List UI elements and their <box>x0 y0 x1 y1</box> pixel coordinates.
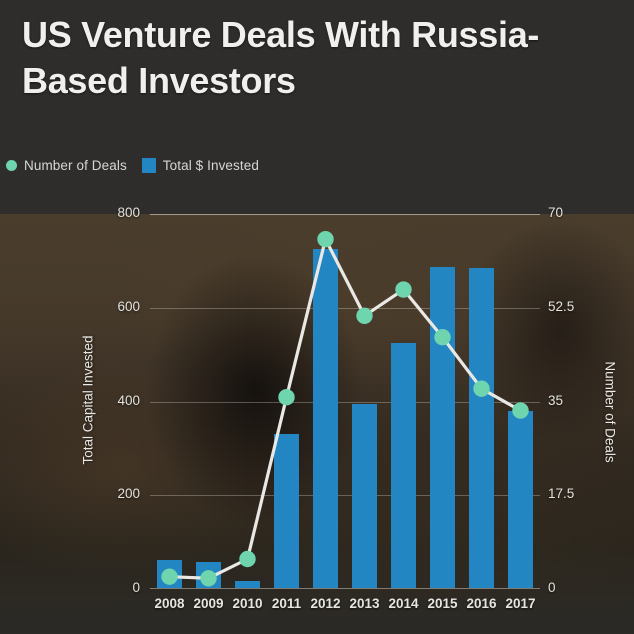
y-tick-label-right: 35 <box>548 393 608 408</box>
y-tick-label-left: 400 <box>8 393 140 408</box>
deals-markers <box>161 231 528 587</box>
y-tick-label-right: 52.5 <box>548 299 608 314</box>
line-series <box>150 214 540 589</box>
x-tick-label-2011: 2011 <box>267 596 306 611</box>
x-tick-label-2014: 2014 <box>384 596 423 611</box>
x-tick-label-2010: 2010 <box>228 596 267 611</box>
y-axis-title-right: Number of Deals <box>603 361 618 462</box>
y-tick-label-right: 17.5 <box>548 486 608 501</box>
y-tick-label-right: 0 <box>548 580 608 595</box>
y-tick-label-right: 70 <box>548 205 608 220</box>
deals-marker-2009[interactable] <box>200 570 216 586</box>
y-tick-label-left: 600 <box>8 299 140 314</box>
legend-item-total-invested[interactable]: Total $ Invested <box>142 158 259 173</box>
deals-marker-2016[interactable] <box>473 380 489 396</box>
deals-marker-2015[interactable] <box>434 329 450 345</box>
legend-item-number-of-deals[interactable]: Number of Deals <box>6 158 127 173</box>
chart-legend: Number of Deals Total $ Invested <box>6 158 265 173</box>
legend-label: Total $ Invested <box>163 158 259 173</box>
deals-marker-2010[interactable] <box>239 551 255 567</box>
chart-screenshot: US Venture Deals With Russia-Based Inves… <box>0 0 634 634</box>
x-tick-label-2012: 2012 <box>306 596 345 611</box>
line-dot-marker-icon <box>6 160 17 171</box>
x-tick-label-2013: 2013 <box>345 596 384 611</box>
deals-marker-2017[interactable] <box>512 402 528 418</box>
page-title: US Venture Deals With Russia-Based Inves… <box>22 12 622 104</box>
deals-marker-2008[interactable] <box>161 568 177 584</box>
x-tick-label-2008: 2008 <box>150 596 189 611</box>
legend-label: Number of Deals <box>24 158 127 173</box>
x-tick-label-2015: 2015 <box>423 596 462 611</box>
deals-marker-2012[interactable] <box>317 231 333 247</box>
plot-area <box>150 214 540 589</box>
deals-marker-2014[interactable] <box>395 281 411 297</box>
y-tick-label-left: 800 <box>8 205 140 220</box>
deals-polyline <box>170 239 521 578</box>
y-tick-label-left: 0 <box>8 580 140 595</box>
x-tick-label-2009: 2009 <box>189 596 228 611</box>
x-tick-label-2017: 2017 <box>501 596 540 611</box>
x-tick-label-2016: 2016 <box>462 596 501 611</box>
y-tick-label-left: 200 <box>8 486 140 501</box>
deals-marker-2011[interactable] <box>278 389 294 405</box>
deals-marker-2013[interactable] <box>356 308 372 324</box>
square-swatch-icon <box>142 158 156 173</box>
